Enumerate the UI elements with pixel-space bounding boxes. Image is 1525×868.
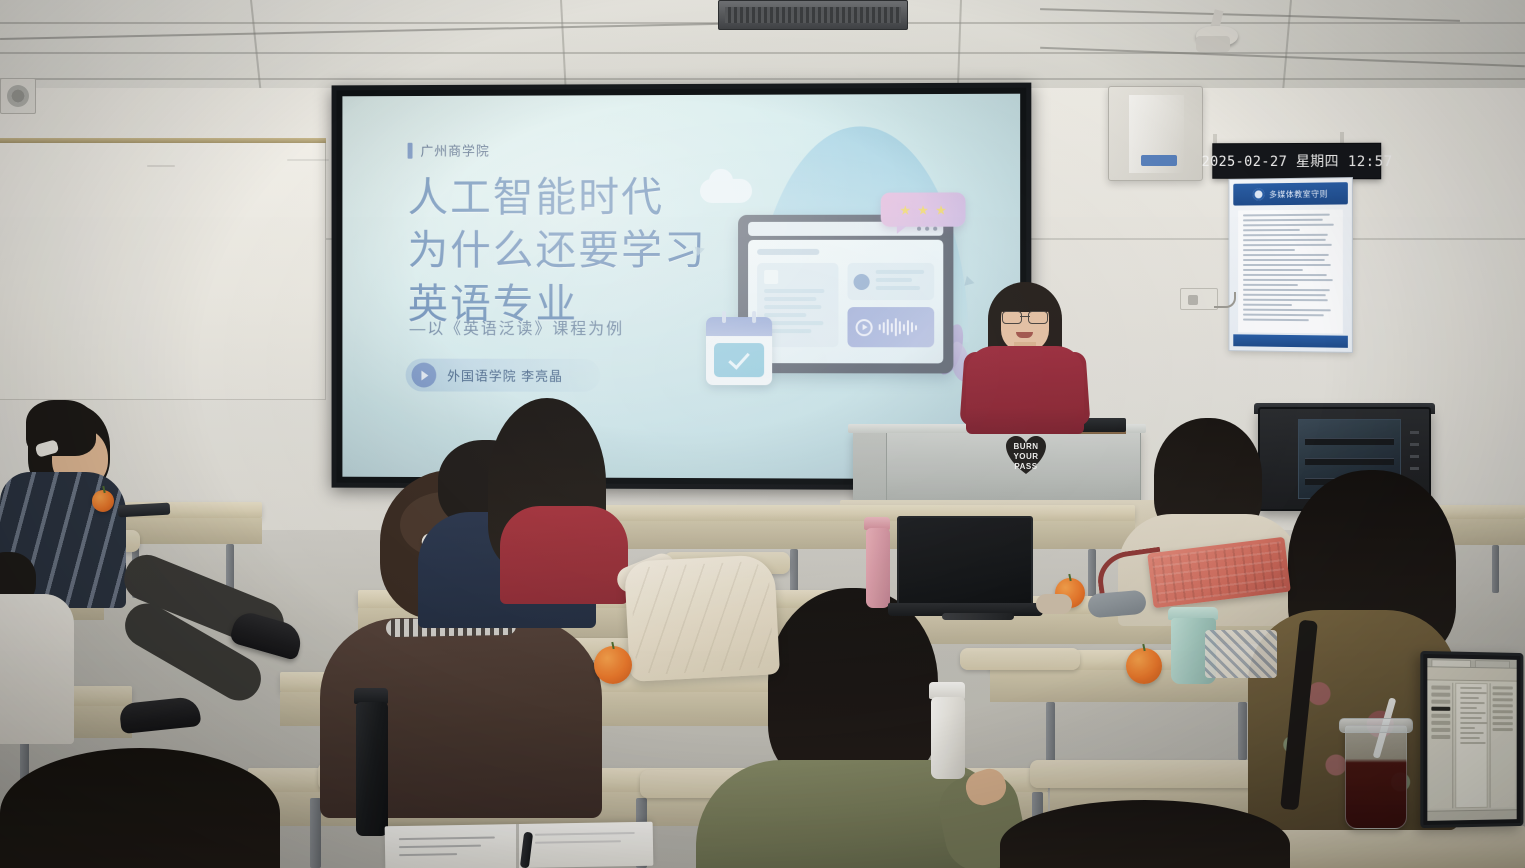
presenter-figure: BURN YOUR PASS bbox=[966, 282, 1084, 434]
whiteboard bbox=[0, 140, 326, 400]
orange-fruit bbox=[594, 646, 632, 684]
url-bar-shape bbox=[757, 249, 819, 255]
document-side-panel bbox=[1490, 683, 1515, 807]
ceiling-vent-icon bbox=[718, 0, 908, 30]
classroom-rules-poster: 多媒体教室守则 bbox=[1228, 177, 1352, 353]
star-icon: ★ bbox=[899, 203, 911, 216]
black-thermos bbox=[356, 702, 388, 836]
pink-thermos bbox=[866, 528, 890, 608]
presenter-top: BURN YOUR PASS bbox=[966, 346, 1084, 434]
presenter-byline-text: 外国语学院 李亮晶 bbox=[447, 366, 563, 385]
play-circle-icon bbox=[856, 319, 873, 336]
slide-surface: 广州商学院 人工智能时代 为什么还要学习 英语专业 —以《英语泛读》课程为例 外… bbox=[342, 94, 1020, 480]
slide-illustration: ★ ★ ★ bbox=[692, 126, 994, 418]
play-triangle-icon bbox=[412, 363, 437, 388]
slide-subtitle: —以《英语泛读》课程为例 bbox=[410, 315, 625, 339]
open-laptop-document bbox=[1420, 651, 1523, 828]
wall-vent-icon bbox=[0, 78, 36, 114]
document-body bbox=[1455, 683, 1487, 809]
shirt-heart-graphic: BURN YOUR PASS bbox=[1002, 434, 1050, 478]
presenter-fringe bbox=[997, 286, 1053, 312]
student-torso bbox=[500, 506, 628, 604]
student-torso bbox=[0, 594, 74, 744]
cloud-icon bbox=[700, 179, 752, 203]
whiteboard-marker-rail bbox=[0, 138, 326, 143]
student-bottom-right-silhouette bbox=[1000, 800, 1300, 868]
orange-fruit bbox=[92, 490, 114, 512]
laptop-stylus bbox=[942, 613, 1014, 620]
cup-lid bbox=[1339, 718, 1413, 733]
lectern-side-panel bbox=[853, 430, 887, 510]
cream-puffer-jacket bbox=[624, 554, 780, 682]
star-icon: ★ bbox=[917, 203, 929, 216]
eyeglasses-icon bbox=[1002, 311, 1048, 322]
slide-institution: 广州商学院 bbox=[408, 141, 490, 160]
avatar-icon bbox=[854, 273, 870, 289]
audio-player-card-icon bbox=[847, 307, 934, 347]
wall-outlet-icon bbox=[1180, 288, 1218, 310]
star-rating-bubble: ★ ★ ★ bbox=[881, 192, 966, 226]
student-hair bbox=[768, 588, 938, 784]
slide-title-line-2: 为什么还要学习 bbox=[408, 224, 707, 277]
window-dot-icon bbox=[925, 227, 929, 231]
small-pouch bbox=[1036, 594, 1072, 614]
poster-badge-icon bbox=[1252, 188, 1264, 200]
notebook-spine bbox=[516, 824, 519, 868]
slide-title: 人工智能时代 为什么还要学习 英语专业 bbox=[408, 171, 707, 331]
profile-card-icon bbox=[847, 263, 934, 300]
brand-accent-bar bbox=[408, 142, 413, 158]
slide-byline: 外国语学院 李亮晶 bbox=[406, 359, 601, 392]
student-mid-back-red bbox=[478, 398, 638, 598]
white-thermos bbox=[931, 697, 965, 779]
window-dot-icon bbox=[933, 227, 937, 231]
poster-title-text: 多媒体教室守则 bbox=[1269, 188, 1328, 200]
poster-footer bbox=[1233, 334, 1348, 348]
led-clock-display: 2025-02-27 星期四 12:57 bbox=[1212, 143, 1381, 180]
ceiling-camera-icon bbox=[1196, 36, 1230, 52]
chair-back bbox=[1030, 760, 1270, 788]
laptop-screen bbox=[897, 516, 1033, 606]
slide-title-line-1: 人工智能时代 bbox=[408, 171, 707, 225]
calendar-check-icon bbox=[706, 317, 772, 385]
speaker-brand-logo bbox=[1141, 155, 1177, 166]
laptop-document-screen bbox=[1427, 658, 1516, 821]
poster-header: 多媒体教室守则 bbox=[1233, 182, 1348, 205]
student-shoe bbox=[119, 696, 202, 734]
poster-body bbox=[1238, 209, 1343, 333]
document-nav-pane bbox=[1429, 682, 1453, 808]
orange-fruit bbox=[1126, 648, 1162, 684]
shirt-graphic-text: BURN YOUR PASS bbox=[1002, 442, 1050, 472]
iced-drink-cup bbox=[1345, 725, 1407, 829]
monitor-content bbox=[748, 240, 943, 364]
paper-plane-icon bbox=[695, 244, 707, 256]
waveform-icon bbox=[879, 318, 917, 336]
wall-speaker-unit bbox=[1108, 86, 1203, 181]
student-left-edge bbox=[0, 552, 110, 752]
window-dot-icon bbox=[917, 227, 921, 231]
open-notebook bbox=[385, 822, 654, 868]
lectern bbox=[853, 430, 1141, 510]
classroom-photo-scene: 广州商学院 人工智能时代 为什么还要学习 英语专业 —以《英语泛读》课程为例 外… bbox=[0, 0, 1525, 868]
student-bottom-left-silhouette bbox=[0, 748, 300, 868]
led-clock-text: 2025-02-27 星期四 12:57 bbox=[1202, 151, 1393, 171]
institution-label: 广州商学院 bbox=[420, 141, 489, 160]
patterned-bag bbox=[1205, 630, 1277, 678]
star-icon: ★ bbox=[935, 203, 947, 216]
